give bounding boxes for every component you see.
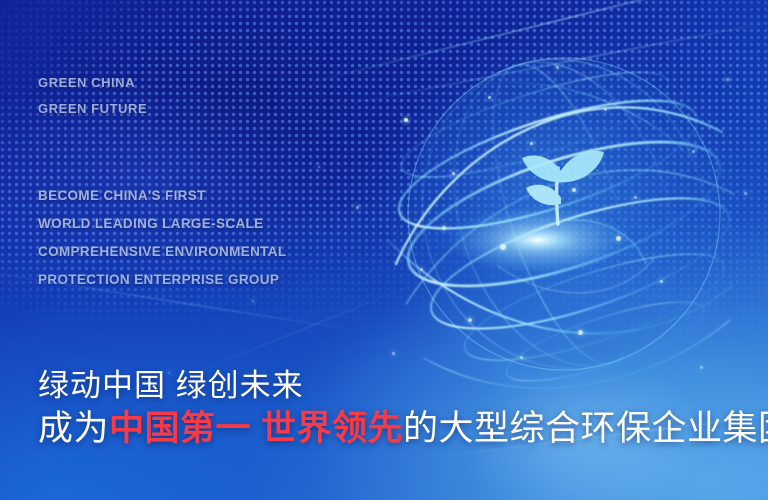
headline-accent-world-leading: 世界领先 — [261, 409, 403, 448]
headline-block: 绿动中国 绿创未来 成为中国第一世界领先的大型综合环保企业集团 — [38, 366, 768, 452]
tagline-line-1: GREEN CHINA — [38, 70, 147, 96]
headline-line-2: 成为中国第一世界领先的大型综合环保企业集团 — [38, 406, 768, 452]
headline-suffix: 的大型综合环保企业集团 — [403, 409, 768, 448]
tagline-line-2: GREEN FUTURE — [38, 96, 147, 122]
hero-banner: GREEN CHINA GREEN FUTURE BECOME CHINA'S … — [0, 0, 768, 500]
mission-line-3: COMPREHENSIVE ENVIRONMENTAL — [38, 238, 286, 266]
headline-prefix: 成为 — [38, 409, 109, 448]
mission-line-4: PROTECTION ENTERPRISE GROUP — [38, 266, 286, 294]
mission-line-1: BECOME CHINA'S FIRST — [38, 182, 286, 210]
mission-statement-block: BECOME CHINA'S FIRST WORLD LEADING LARGE… — [38, 182, 286, 294]
tagline-block: GREEN CHINA GREEN FUTURE — [38, 70, 147, 122]
mission-line-2: WORLD LEADING LARGE-SCALE — [38, 210, 286, 238]
headline-accent-china-first: 中国第一 — [109, 409, 251, 448]
headline-line-1: 绿动中国 绿创未来 — [38, 366, 768, 406]
